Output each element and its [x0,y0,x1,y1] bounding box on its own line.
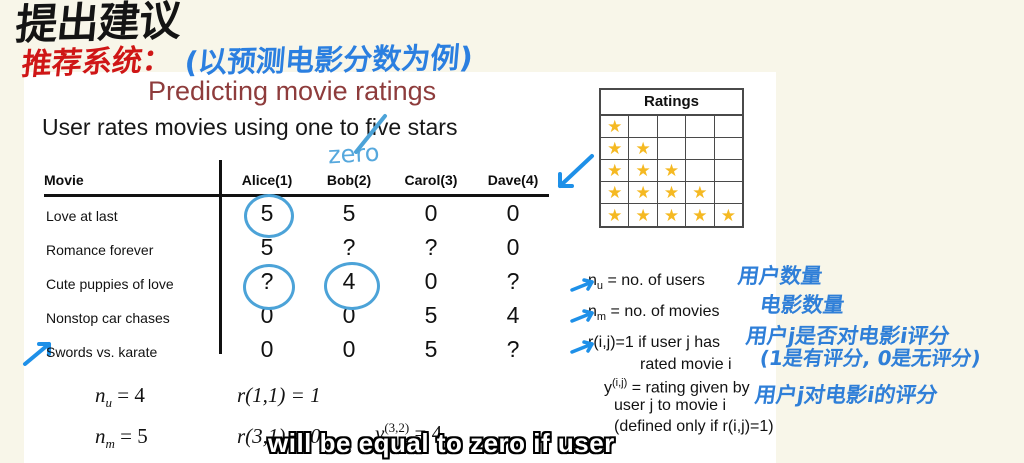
annotation-arrow-note-rij [570,338,596,358]
cell: 5 [308,200,390,227]
column-header-dave: Dave(4) [472,172,554,188]
math-n-movies: nm = 5 [95,424,148,452]
note-n-users-text: = no. of users [607,272,704,289]
math-n-movies-value: = 5 [120,424,148,448]
cell: ? [472,336,554,363]
cell: 0 [226,302,308,329]
math-n-users-symbol: n [95,383,106,407]
table-header-row: Movie Alice(1) Bob(2) Carol(3) Dave(4) [44,168,549,194]
cell: ? [390,234,472,261]
note-y-definition-line1: y(i,j) = rating given by [604,377,750,397]
note-y-definition-line2: user j to movie i [614,397,726,415]
cell: 5 [226,234,308,261]
cell: 0 [390,200,472,227]
handwritten-note-rij-2: (1是有评分, 0是无评分) [759,348,982,368]
cell: 5 [390,336,472,363]
ratings-star-grid: ★★★★★★★★★★★★★★★ [601,116,742,226]
ratings-legend-empty-cell [658,116,686,138]
note-n-movies-text: = no. of movies [611,303,720,320]
ratings-legend-row: ★★ [601,138,742,160]
column-header-carol: Carol(3) [390,172,472,188]
cell: 4 [308,268,390,295]
movie-ratings-table: Movie Alice(1) Bob(2) Carol(3) Dave(4) L… [44,168,549,194]
math-n-movies-subscript: m [106,436,115,451]
ratings-legend-empty-cell [686,160,714,182]
star-icon: ★ [658,182,686,204]
note-n-users: nu = no. of users [588,272,705,292]
handwritten-note-users: 用户数量 [737,266,824,287]
video-caption: will be equal to zero if user [268,428,615,459]
ratings-legend-empty-cell [715,182,742,204]
handwritten-note-movies: 电影数量 [759,295,846,316]
ratings-legend-row: ★ [601,116,742,138]
ratings-legend-box: Ratings ★★★★★★★★★★★★★★★ [599,88,744,228]
cell: 0 [308,302,390,329]
column-header-alice: Alice(1) [226,172,308,188]
row-label: Love at last [46,208,118,224]
math-n-users: nu = 4 [95,383,145,411]
ratings-legend-empty-cell [715,138,742,160]
cell: 4 [472,302,554,329]
note-y-superscript: (i,j) [612,377,627,389]
note-r-definition-line2: rated movie i [640,356,732,374]
handwritten-note-rij-1: 用户j是否对电影i评分 [745,326,951,347]
star-icon: ★ [629,160,657,182]
row-label: Romance forever [46,242,153,258]
handwritten-title-black: 提出建议 [14,0,183,46]
math-r-1-1: r(1,1) = 1 [237,383,321,408]
table-header-rule [44,194,549,197]
column-header-movie: Movie [44,172,84,188]
note-r-definition-line1: r(i,j)=1 if user j has [588,334,720,352]
note-n-users-subscript: u [597,280,603,292]
star-icon: ★ [629,138,657,160]
column-header-bob: Bob(2) [308,172,390,188]
ratings-legend-empty-cell [715,116,742,138]
note-n-movies-subscript: m [597,311,606,323]
ratings-legend-title: Ratings [601,90,742,116]
star-icon: ★ [658,204,686,226]
row-label: Nonstop car chases [46,310,170,326]
cell: ? [308,234,390,261]
star-icon: ★ [601,138,629,160]
star-icon: ★ [601,204,629,226]
star-icon: ★ [686,204,714,226]
table-vertical-divider [219,160,222,354]
row-label: Swords vs. karate [46,344,157,360]
annotation-arrow-to-ratings-box [552,152,598,198]
star-icon: ★ [658,160,686,182]
cell: 0 [472,234,554,261]
math-n-users-value: = 4 [117,383,145,407]
ratings-legend-row: ★★★ [601,160,742,182]
annotation-arrow-note-nm [570,307,596,327]
handwritten-note-yij: 用户j对电影i的评分 [754,385,939,406]
math-n-users-subscript: u [106,395,113,410]
ratings-legend-empty-cell [686,138,714,160]
note-y-symbol: y [604,379,612,396]
cell: 0 [390,268,472,295]
math-n-movies-symbol: n [95,424,106,448]
annotation-arrow-to-one [352,112,392,154]
cell: 0 [308,336,390,363]
slide-canvas: 提出建议 推荐系统： (以预测电影分数为例) Predicting movie … [0,0,1024,463]
ratings-legend-row: ★★★★ [601,182,742,204]
row-label: Cute puppies of love [46,276,174,292]
ratings-legend-row: ★★★★★ [601,204,742,226]
star-icon: ★ [715,204,742,226]
slide-subtitle: User rates movies using one to five star… [42,114,457,141]
cell: 0 [226,336,308,363]
star-icon: ★ [686,182,714,204]
ratings-legend-empty-cell [686,116,714,138]
annotation-arrow-note-nu [570,276,596,296]
note-n-movies: nm = no. of movies [588,303,719,323]
cell: 0 [472,200,554,227]
cell: ? [472,268,554,295]
note-y-definition-line3: (defined only if r(i,j)=1) [614,418,774,436]
cell: 5 [226,200,308,227]
page-title: Predicting movie ratings [148,76,436,107]
note-y-text: = rating given by [632,379,750,396]
star-icon: ★ [601,160,629,182]
cell: ? [226,268,308,295]
star-icon: ★ [601,182,629,204]
star-icon: ★ [601,116,629,138]
ratings-legend-empty-cell [658,138,686,160]
ratings-legend-empty-cell [715,160,742,182]
handwritten-title-blue: (以预测电影分数为例) [183,43,474,77]
star-icon: ★ [629,182,657,204]
star-icon: ★ [629,204,657,226]
cell: 5 [390,302,472,329]
ratings-legend-empty-cell [629,116,657,138]
